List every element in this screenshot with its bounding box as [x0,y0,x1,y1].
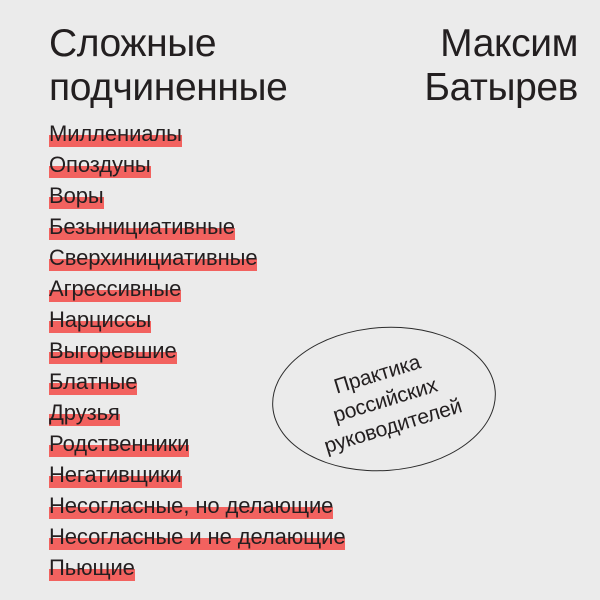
book-cover: Сложные подчиненные Максим Батырев Милле… [0,0,600,600]
list-item: Агрессивные [49,273,509,304]
list-item-label: Агрессивные [49,273,181,304]
list-item: Безынициативные [49,211,509,242]
list-item-label: Пьющие [49,552,135,583]
list-item-label: Негативщики [49,459,182,490]
list-item-label: Нарциссы [49,304,151,335]
author-line-2: Батырев [318,66,578,110]
list-item-label: Несогласные, но делающие [49,490,333,521]
author-line-1: Максим [318,22,578,66]
cover-header: Сложные подчиненные Максим Батырев [0,0,600,118]
list-item-label: Друзья [49,397,120,428]
list-item-label: Блатные [49,366,137,397]
list-item: Сверхинициативные [49,242,509,273]
list-item-label: Родственники [49,428,189,459]
list-item: Несогласные, но делающие [49,490,509,521]
list-item-label: Сверхинициативные [49,242,257,273]
list-item: Миллениалы [49,118,509,149]
list-item: Опоздуны [49,149,509,180]
list-item-label: Воры [49,180,104,211]
list-item-label: Опоздуны [49,149,151,180]
list-item-label: Миллениалы [49,118,182,149]
list-item: Пьющие [49,552,509,583]
list-item-label: Несогласные и не делающие [49,521,345,552]
list-item: Негативщики [49,459,509,490]
list-item: Воры [49,180,509,211]
book-author: Максим Батырев [318,22,578,110]
list-item: Несогласные и не делающие [49,521,509,552]
list-item-label: Безынициативные [49,211,235,242]
list-item-label: Выгоревшие [49,335,177,366]
